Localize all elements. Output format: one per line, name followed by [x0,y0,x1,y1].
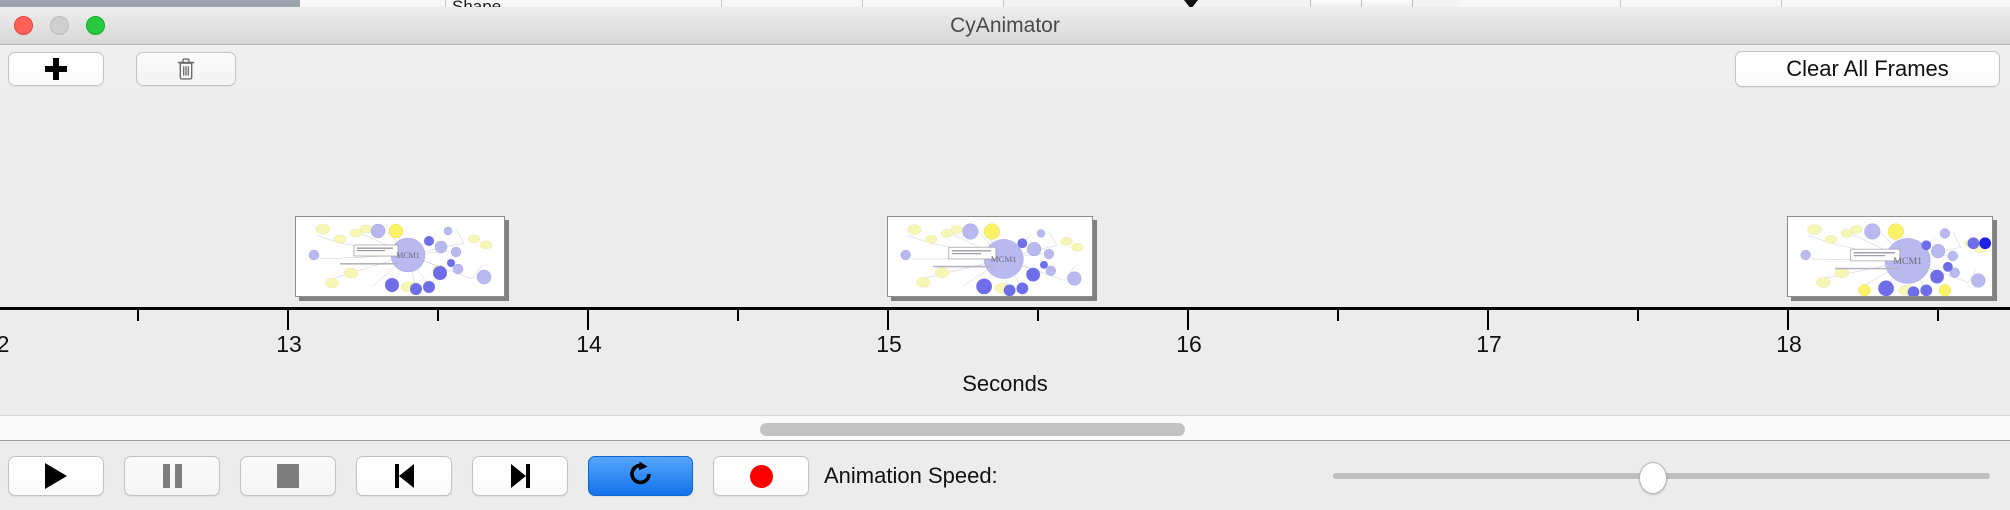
timeline-frame-thumbnail[interactable]: MCM1 [1787,216,1993,297]
play-icon [45,463,67,489]
window-title: CyAnimator [0,7,2010,45]
svg-text:MCM1: MCM1 [396,251,420,260]
network-thumbnail-1: MCM1 [296,217,504,296]
loop-button[interactable] [588,456,693,496]
delete-frame-button[interactable] [136,52,236,86]
title-bar[interactable]: CyAnimator [0,7,2010,45]
ruler-major-tick [287,310,289,330]
loop-icon [628,460,654,493]
pause-button[interactable] [124,456,220,496]
ruler-tick-label: 18 [1776,331,1802,358]
stop-button[interactable] [240,456,336,496]
skip-to-start-icon [395,464,414,488]
animation-speed-label: Animation Speed: [824,456,998,496]
network-thumbnail-2: MCM1 [888,217,1092,296]
timeline-scrollbar[interactable] [0,415,2010,441]
ruler-major-tick [587,310,589,330]
ruler-tick-label: 2 [0,331,9,358]
pause-icon [163,464,182,488]
svg-text:MCM1: MCM1 [991,254,1017,264]
ruler-tick-label: 13 [276,331,302,358]
ruler-major-tick [887,310,889,330]
skip-to-end-icon [511,464,530,488]
trash-icon [176,57,196,81]
ruler-tick-label: 14 [576,331,602,358]
timeline-axis-title: Seconds [0,371,2010,397]
svg-text:MCM1: MCM1 [1893,256,1922,267]
clear-all-frames-label: Clear All Frames [1786,56,1949,82]
ruler-major-tick [1787,310,1789,330]
cyanimator-window: Shape CyAnimator C [0,0,2010,510]
ruler-tick-label: 17 [1476,331,1502,358]
playback-bar: Animation Speed: [0,442,2010,510]
timeline-panel[interactable]: MCM1 [0,88,2010,415]
play-button[interactable] [8,456,104,496]
animation-speed-slider[interactable] [1333,456,1990,496]
stop-icon [277,464,299,488]
ruler-major-tick [1487,310,1489,330]
scrollbar-thumb[interactable] [760,423,1185,436]
ruler-minor-tick [1637,310,1639,321]
skip-to-end-button[interactable] [472,456,568,496]
ruler-minor-tick [1937,310,1939,321]
ruler-minor-tick [437,310,439,321]
record-icon [750,465,773,488]
add-frame-button[interactable] [8,52,104,86]
ruler-minor-tick [1037,310,1039,321]
ruler-major-tick [1187,310,1189,330]
ruler-minor-tick [1337,310,1339,321]
plus-icon [45,58,67,80]
ruler-tick-label: 15 [876,331,902,358]
record-button[interactable] [713,456,809,496]
ruler-tick-label: 16 [1176,331,1202,358]
clear-all-frames-button[interactable]: Clear All Frames [1735,51,2000,87]
ruler-axis [0,307,2010,310]
timeline-frame-thumbnail[interactable]: MCM1 [887,216,1093,297]
slider-thumb[interactable] [1639,462,1667,494]
timeline-ruler[interactable]: 2 13 14 15 16 17 18 [0,307,2010,367]
ruler-minor-tick [137,310,139,321]
network-thumbnail-3: MCM1 [1788,217,1992,296]
timeline-frame-thumbnail[interactable]: MCM1 [295,216,505,297]
skip-to-start-button[interactable] [356,456,452,496]
ruler-minor-tick [737,310,739,321]
toolbar: Clear All Frames [0,45,2010,89]
